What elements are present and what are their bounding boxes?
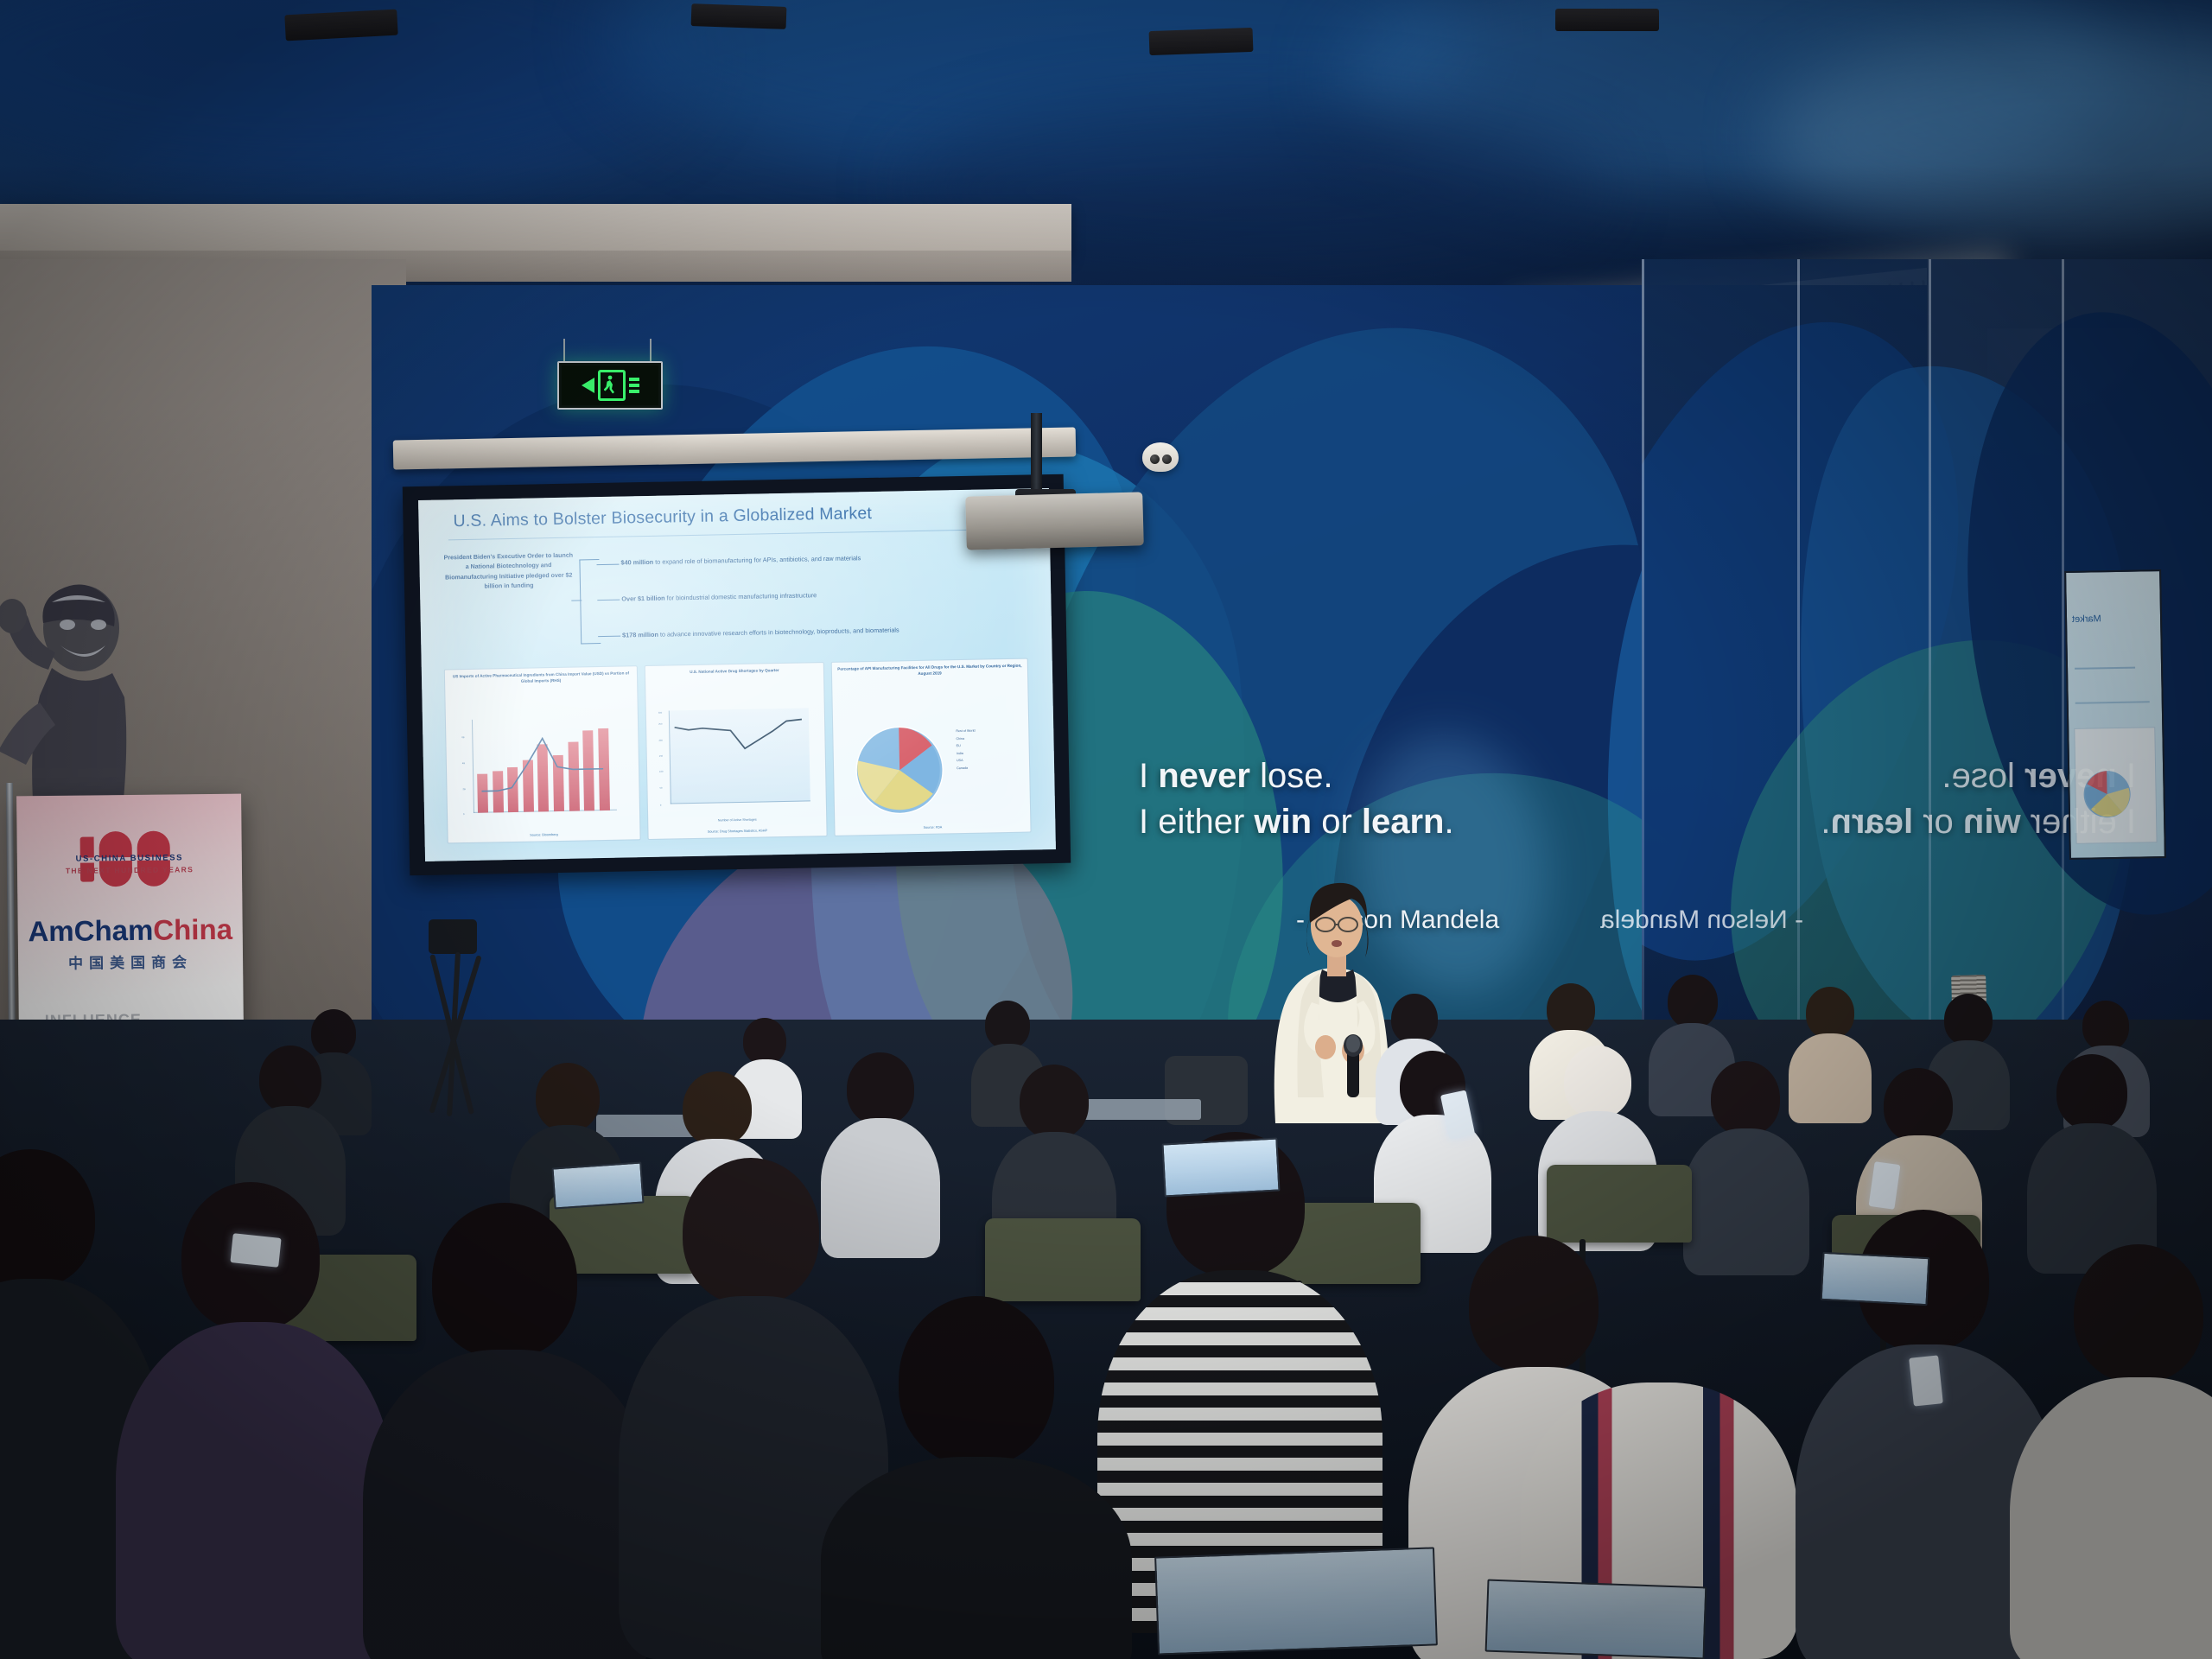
presentation-slide: U.S. Aims to Bolster Biosecurity in a Gl… xyxy=(418,488,1056,861)
laptop[interactable] xyxy=(1154,1547,1438,1655)
chart2-title: U.S. National Active Drug Shortages by Q… xyxy=(645,667,823,677)
camera-tripod xyxy=(406,942,501,1166)
slide-bullet-line xyxy=(597,600,620,601)
chair xyxy=(1547,1165,1692,1243)
glass-mullion xyxy=(2062,259,2064,1106)
slide-left-callout: President Biden's Executive Order to lau… xyxy=(443,551,574,594)
running-person-icon xyxy=(604,375,616,394)
glass-mullion xyxy=(1642,259,1644,1106)
ceiling-beam xyxy=(1555,9,1659,31)
ceiling-soffit xyxy=(0,204,1071,256)
chart3-title: Percentage of API Manufacturing Faciliti… xyxy=(832,664,1027,679)
tablet[interactable] xyxy=(230,1233,281,1268)
slide-bullet-line xyxy=(598,636,620,638)
laptop[interactable] xyxy=(1161,1138,1280,1198)
mirrored-slide-reflection: Market xyxy=(2064,569,2166,860)
ceiling-beam xyxy=(1149,28,1254,55)
laptop[interactable] xyxy=(1485,1580,1707,1659)
chair xyxy=(985,1218,1141,1301)
slide-chart-line: U.S. National Active Drug Shortages by Q… xyxy=(645,662,828,840)
pie-chart xyxy=(854,724,945,816)
logo-tagline-2: THE NEXT HUNDRED YEARS xyxy=(17,865,242,876)
exit-bars-icon xyxy=(629,378,639,393)
mirrored-slide-title-fragment: Market xyxy=(2072,613,2101,625)
ceiling-projector xyxy=(965,492,1144,550)
amcham-china-wordmark: AmChamChina xyxy=(18,913,243,949)
slide-chart-bar: US Imports of Active Pharmaceutical Ingr… xyxy=(444,665,641,843)
smartphone[interactable] xyxy=(1909,1355,1943,1406)
logo-tagline-1: US-CHINA BUSINESS xyxy=(17,853,242,865)
slide-bullet-line xyxy=(597,564,620,566)
ceiling-beam xyxy=(691,3,787,29)
slide-title-rule xyxy=(448,529,1019,541)
slide-bullet-3: $178 million to advance innovative resea… xyxy=(622,623,1037,640)
chart3-source: Source: FDA xyxy=(835,824,1030,831)
conference-room-photo: I never lose. I either win or learn. - N… xyxy=(0,0,2212,1659)
exit-sign xyxy=(557,361,663,410)
slide-bullet-2: Over $1 billion for bioindustrial domest… xyxy=(621,588,1001,604)
pie-legend: Rest of World China EU India USA Canada xyxy=(956,728,976,772)
exit-arrow-icon xyxy=(582,378,594,393)
mandela-wall-graphic xyxy=(0,566,147,825)
laptop[interactable] xyxy=(551,1161,644,1209)
security-camera xyxy=(1142,442,1179,472)
wall-quote: I never lose. I either win or learn. xyxy=(1139,753,1588,845)
chart1-title: US Imports of Active Pharmaceutical Ingr… xyxy=(445,671,637,686)
slide-chart-pie: Percentage of API Manufacturing Faciliti… xyxy=(831,658,1032,836)
laptop[interactable] xyxy=(1821,1252,1930,1306)
slide-title: U.S. Aims to Bolster Biosecurity in a Gl… xyxy=(453,504,872,531)
video-camera xyxy=(429,919,477,954)
slide-bracket xyxy=(579,559,601,644)
quote-line-2: I either win or learn. xyxy=(1139,799,1588,845)
slide-bullet-1: $40 million to expand role of biomanufac… xyxy=(620,551,1027,569)
mirrored-quote-attribution: - Nelson Mandela xyxy=(1600,906,1803,935)
exit-door-icon xyxy=(598,370,626,401)
quote-line-1: I never lose. xyxy=(1139,753,1588,799)
amcham-china-chinese-name: 中国美国商会 xyxy=(18,950,243,974)
glass-mullion xyxy=(1797,259,1800,1106)
glass-mullion xyxy=(1929,259,1931,1106)
